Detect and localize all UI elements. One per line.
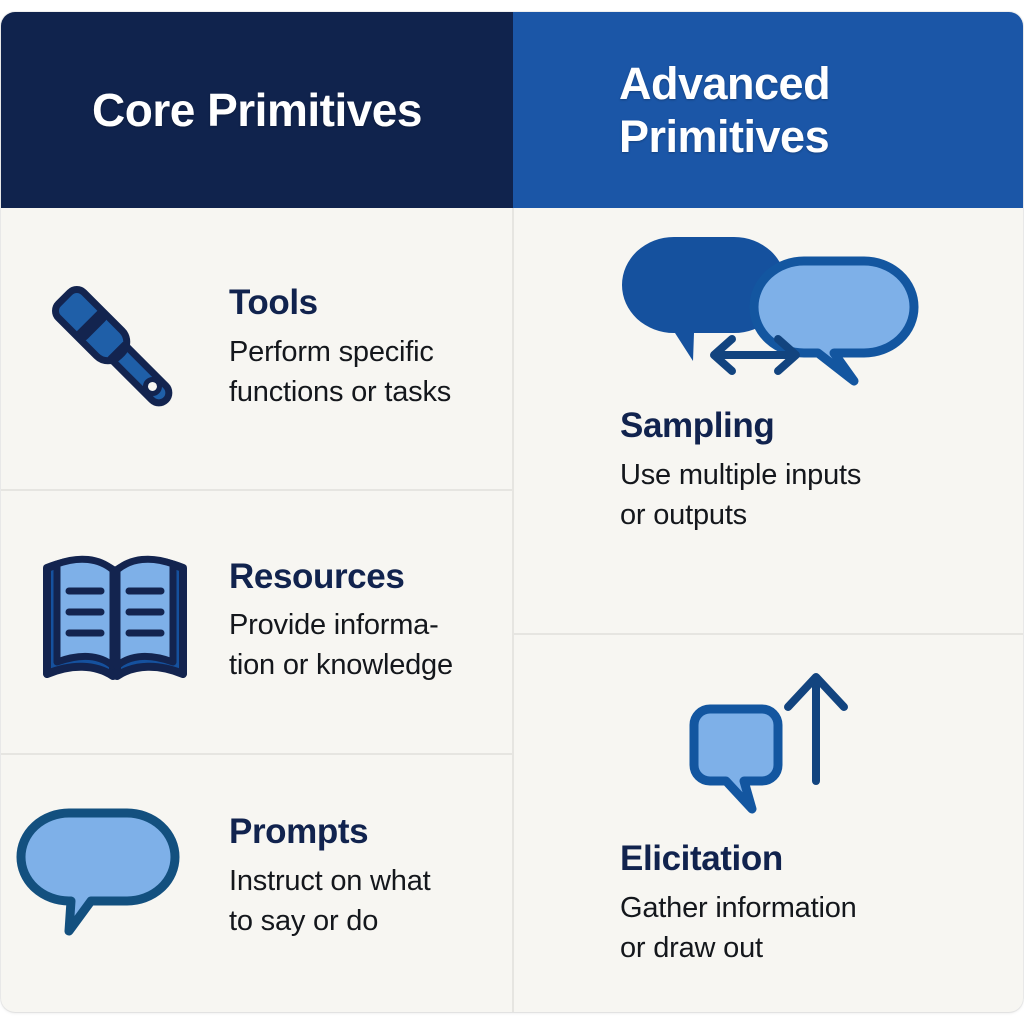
resources-description: Provide informa- tion or knowledge (229, 605, 512, 685)
list-item-sampling[interactable]: Sampling Use multiple inputs or outputs (514, 218, 1023, 535)
header-core-primitives-title: Core Primitives (92, 83, 422, 137)
divider-advanced-1 (514, 633, 1023, 635)
columns-container: Tools Perform specific functions or task… (1, 208, 1023, 1012)
tools-text: Tools Perform specific functions or task… (229, 285, 512, 412)
column-advanced-primitives: Sampling Use multiple inputs or outputs (514, 208, 1023, 1012)
resources-title: Resources (229, 559, 512, 596)
elicitation-description: Gather information or draw out (620, 888, 1023, 968)
prompts-text: Prompts Instruct on what to say or do (229, 814, 512, 941)
two-speech-bubbles-arrow-icon (514, 218, 1023, 408)
column-core-primitives: Tools Perform specific functions or task… (1, 208, 514, 1012)
tools-description: Perform specific functions or tasks (229, 332, 512, 412)
wrench-icon (1, 269, 229, 429)
header-advanced-primitives: Advanced Primitives (513, 12, 1023, 208)
list-item-elicitation[interactable]: Elicitation Gather information or draw o… (514, 651, 1023, 968)
prompts-title: Prompts (229, 814, 512, 851)
elicitation-title: Elicitation (620, 841, 1023, 878)
speech-bubble-up-arrow-icon (514, 651, 1023, 841)
sampling-text: Sampling Use multiple inputs or outputs (514, 408, 1023, 535)
sampling-description: Use multiple inputs or outputs (620, 455, 1023, 535)
resources-text: Resources Provide informa- tion or knowl… (229, 559, 512, 686)
header-core-primitives: Core Primitives (1, 12, 513, 208)
infographic-card: Core Primitives Advanced Primitives (1, 12, 1023, 1012)
list-item-prompts[interactable]: Prompts Instruct on what to say or do (1, 755, 512, 1000)
tools-title: Tools (229, 285, 512, 322)
list-item-tools[interactable]: Tools Perform specific functions or task… (1, 208, 512, 489)
open-book-icon (1, 550, 229, 695)
sampling-title: Sampling (620, 408, 1023, 445)
elicitation-text: Elicitation Gather information or draw o… (514, 841, 1023, 968)
header-band: Core Primitives Advanced Primitives (1, 12, 1023, 208)
list-item-resources[interactable]: Resources Provide informa- tion or knowl… (1, 491, 512, 753)
prompts-description: Instruct on what to say or do (229, 861, 512, 941)
header-advanced-primitives-title: Advanced Primitives (619, 57, 830, 163)
speech-bubble-icon (1, 803, 229, 953)
